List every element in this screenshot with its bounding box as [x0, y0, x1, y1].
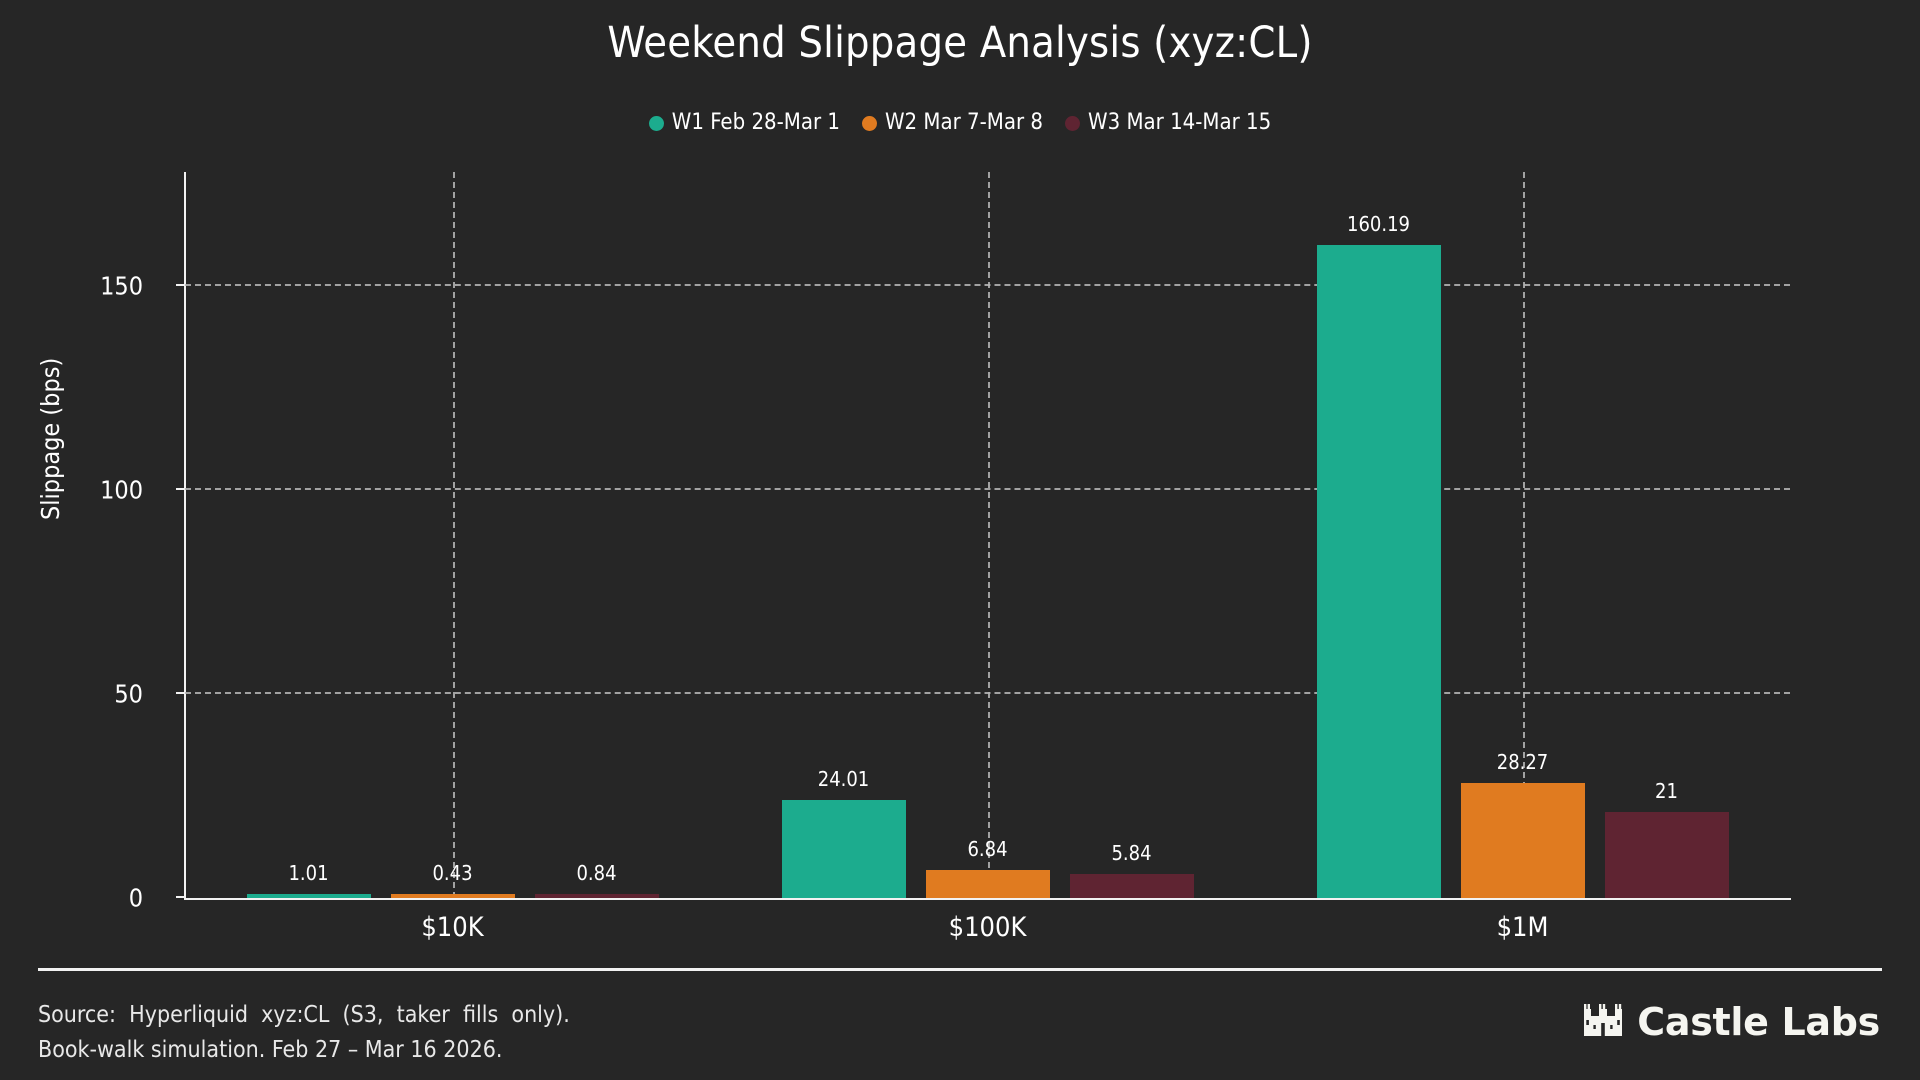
bar-value-label: 24.01 — [818, 767, 870, 791]
legend-item-label: W2 Mar 7-Mar 8 — [885, 112, 1043, 134]
y-axis-title: Slippage (bps) — [36, 358, 65, 520]
bar-value-label: 0.84 — [576, 861, 616, 885]
page-title: Weekend Slippage Analysis (xyz:CL) — [0, 18, 1920, 68]
bar[interactable] — [535, 894, 659, 898]
bar-value-label: 5.84 — [1111, 841, 1151, 865]
legend-item-label: W1 Feb 28-Mar 1 — [672, 112, 840, 134]
bar-value-label: 0.43 — [432, 861, 472, 885]
bar[interactable] — [926, 870, 1050, 898]
bar-value-label: 160.19 — [1347, 212, 1410, 236]
bar[interactable] — [1605, 812, 1729, 898]
gridline-vertical — [988, 172, 990, 898]
footer-divider — [38, 968, 1882, 971]
source-line-2: Book-walk simulation. Feb 27 – Mar 16 20… — [38, 1037, 503, 1063]
y-axis-tick-label: 100 — [100, 476, 143, 505]
bar[interactable] — [1070, 874, 1194, 898]
bar[interactable] — [782, 800, 906, 898]
bar[interactable] — [391, 894, 515, 898]
y-axis-tick-label: 0 — [129, 884, 143, 913]
y-axis-tick — [176, 488, 185, 490]
brand-logo: Castle Labs — [1583, 1000, 1880, 1044]
x-axis-group-label: $10K — [421, 912, 483, 943]
y-axis-tick — [176, 896, 185, 898]
x-axis-group-label: $100K — [949, 912, 1027, 943]
legend-item-label: W3 Mar 14-Mar 15 — [1088, 112, 1271, 134]
bar[interactable] — [1317, 245, 1441, 898]
y-axis-spine — [184, 172, 186, 898]
plot-area: 1.010.430.8424.016.845.84160.1928.2721 — [185, 172, 1790, 898]
gridline-vertical — [453, 172, 455, 898]
x-axis-spine — [184, 898, 1791, 900]
y-axis-tick-labels: 050100150 — [0, 172, 165, 898]
y-axis-tick — [176, 692, 185, 694]
castle-icon — [1583, 1003, 1623, 1041]
bar-value-label: 1.01 — [288, 861, 328, 885]
brand-name: Castle Labs — [1637, 1000, 1880, 1044]
chart-page: Weekend Slippage Analysis (xyz:CL) W1 Fe… — [0, 0, 1920, 1080]
source-note: Source: Hyperliquid xyz:CL (S3, taker fi… — [38, 998, 570, 1068]
bar-value-label: 21 — [1655, 779, 1678, 803]
legend-item[interactable]: W1 Feb 28-Mar 1 — [649, 112, 840, 134]
legend-item[interactable]: W3 Mar 14-Mar 15 — [1065, 112, 1271, 134]
legend-item[interactable]: W2 Mar 7-Mar 8 — [862, 112, 1043, 134]
bar-value-label: 28.27 — [1497, 750, 1549, 774]
legend-swatch-icon — [862, 116, 877, 131]
chart-legend: W1 Feb 28-Mar 1W2 Mar 7-Mar 8W3 Mar 14-M… — [0, 112, 1920, 134]
bar[interactable] — [1461, 783, 1585, 898]
bar-value-label: 6.84 — [967, 837, 1007, 861]
source-line-1: Source: Hyperliquid xyz:CL (S3, taker fi… — [38, 1002, 570, 1028]
y-axis-tick-label: 50 — [114, 680, 143, 709]
y-axis-tick-label: 150 — [100, 272, 143, 301]
legend-swatch-icon — [649, 116, 664, 131]
y-axis-tick — [176, 284, 185, 286]
legend-swatch-icon — [1065, 116, 1080, 131]
x-axis-group-label: $1M — [1497, 912, 1549, 943]
bar[interactable] — [247, 894, 371, 898]
